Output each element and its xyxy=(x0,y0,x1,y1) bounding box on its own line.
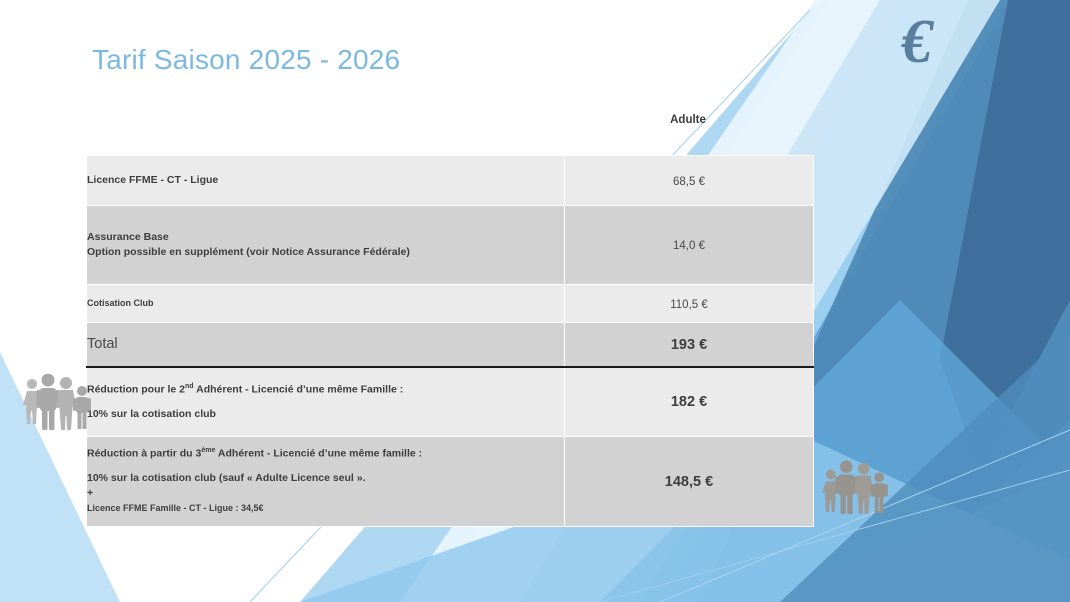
row-label-line: Réduction à partir du 3 xyxy=(87,448,201,460)
table-row-total: Total 193 € xyxy=(87,323,814,368)
table-row: Cotisation Club 110,5 € xyxy=(87,285,814,323)
price-value: 182 € xyxy=(671,394,707,410)
price-value: 148,5 € xyxy=(665,474,713,490)
row-label-cotisation-club: Cotisation Club xyxy=(87,285,565,323)
table-row: Réduction à partir du 3ème Adhérent - Li… xyxy=(87,437,814,527)
row-value-reduction-2nd: 182 € xyxy=(565,367,814,437)
row-label-licence-ffme: Licence FFME - CT - Ligue xyxy=(87,156,565,206)
row-value-licence-ffme: 68,5 € xyxy=(565,156,814,206)
row-label-line: Licence FFME - CT - Ligue xyxy=(87,174,218,186)
row-value-reduction-3eme: 148,5 € xyxy=(565,437,814,527)
row-label-line: Option possible en supplément (voir Noti… xyxy=(87,246,410,258)
price-value: 68,5 € xyxy=(673,176,705,188)
row-value-total: 193 € xyxy=(565,323,814,368)
row-label-line: Licence FFME Famille - CT - Ligue : 34,5… xyxy=(87,503,264,513)
row-label-line: Adhérent - Licencié d’une même famille : xyxy=(215,448,422,460)
table-row: Réduction pour le 2nd Adhérent - Licenci… xyxy=(87,367,814,437)
price-value: 14,0 € xyxy=(673,240,705,252)
row-label-line: 10% sur la cotisation club (sauf « Adult… xyxy=(87,472,366,484)
row-label-reduction-3eme: Réduction à partir du 3ème Adhérent - Li… xyxy=(87,437,565,527)
table-row: Licence FFME - CT - Ligue 68,5 € xyxy=(87,156,814,206)
euro-symbol-icon: € xyxy=(884,10,950,74)
table-row: Assurance Base Option possible en supplé… xyxy=(87,206,814,285)
row-label-reduction-2nd: Réduction pour le 2nd Adhérent - Licenci… xyxy=(87,367,565,437)
row-label-total: Total xyxy=(87,323,565,368)
family-group-icon xyxy=(22,374,92,432)
row-label-line: + xyxy=(87,487,93,499)
row-label-assurance-base: Assurance Base Option possible en supplé… xyxy=(87,206,565,285)
row-label-line: Assurance Base xyxy=(87,231,169,243)
row-label-line: Adhérent - Licencié d’une même Famille : xyxy=(194,384,404,396)
page-title: Tarif Saison 2025 - 2026 xyxy=(92,44,400,76)
svg-text:€: € xyxy=(901,10,935,74)
ordinal-suffix: ème xyxy=(201,447,215,454)
ordinal-suffix: nd xyxy=(185,383,194,390)
family-group-icon xyxy=(820,459,890,515)
pricing-table: Licence FFME - CT - Ligue 68,5 € Assuran… xyxy=(86,155,814,527)
row-label-line: Réduction pour le 2 xyxy=(87,384,185,396)
row-label-line: Total xyxy=(87,336,118,352)
slide-canvas: € Tarif Saison 2025 - 2026 Adulte Licenc… xyxy=(0,0,1070,602)
row-label-line: 10% sur la cotisation club xyxy=(87,408,216,420)
row-label-line: Cotisation Club xyxy=(87,298,154,308)
row-value-assurance-base: 14,0 € xyxy=(565,206,814,285)
row-value-cotisation-club: 110,5 € xyxy=(565,285,814,323)
price-value: 110,5 € xyxy=(670,299,708,311)
table-column-header-adulte: Adulte xyxy=(563,114,813,126)
price-value: 193 € xyxy=(671,337,707,353)
